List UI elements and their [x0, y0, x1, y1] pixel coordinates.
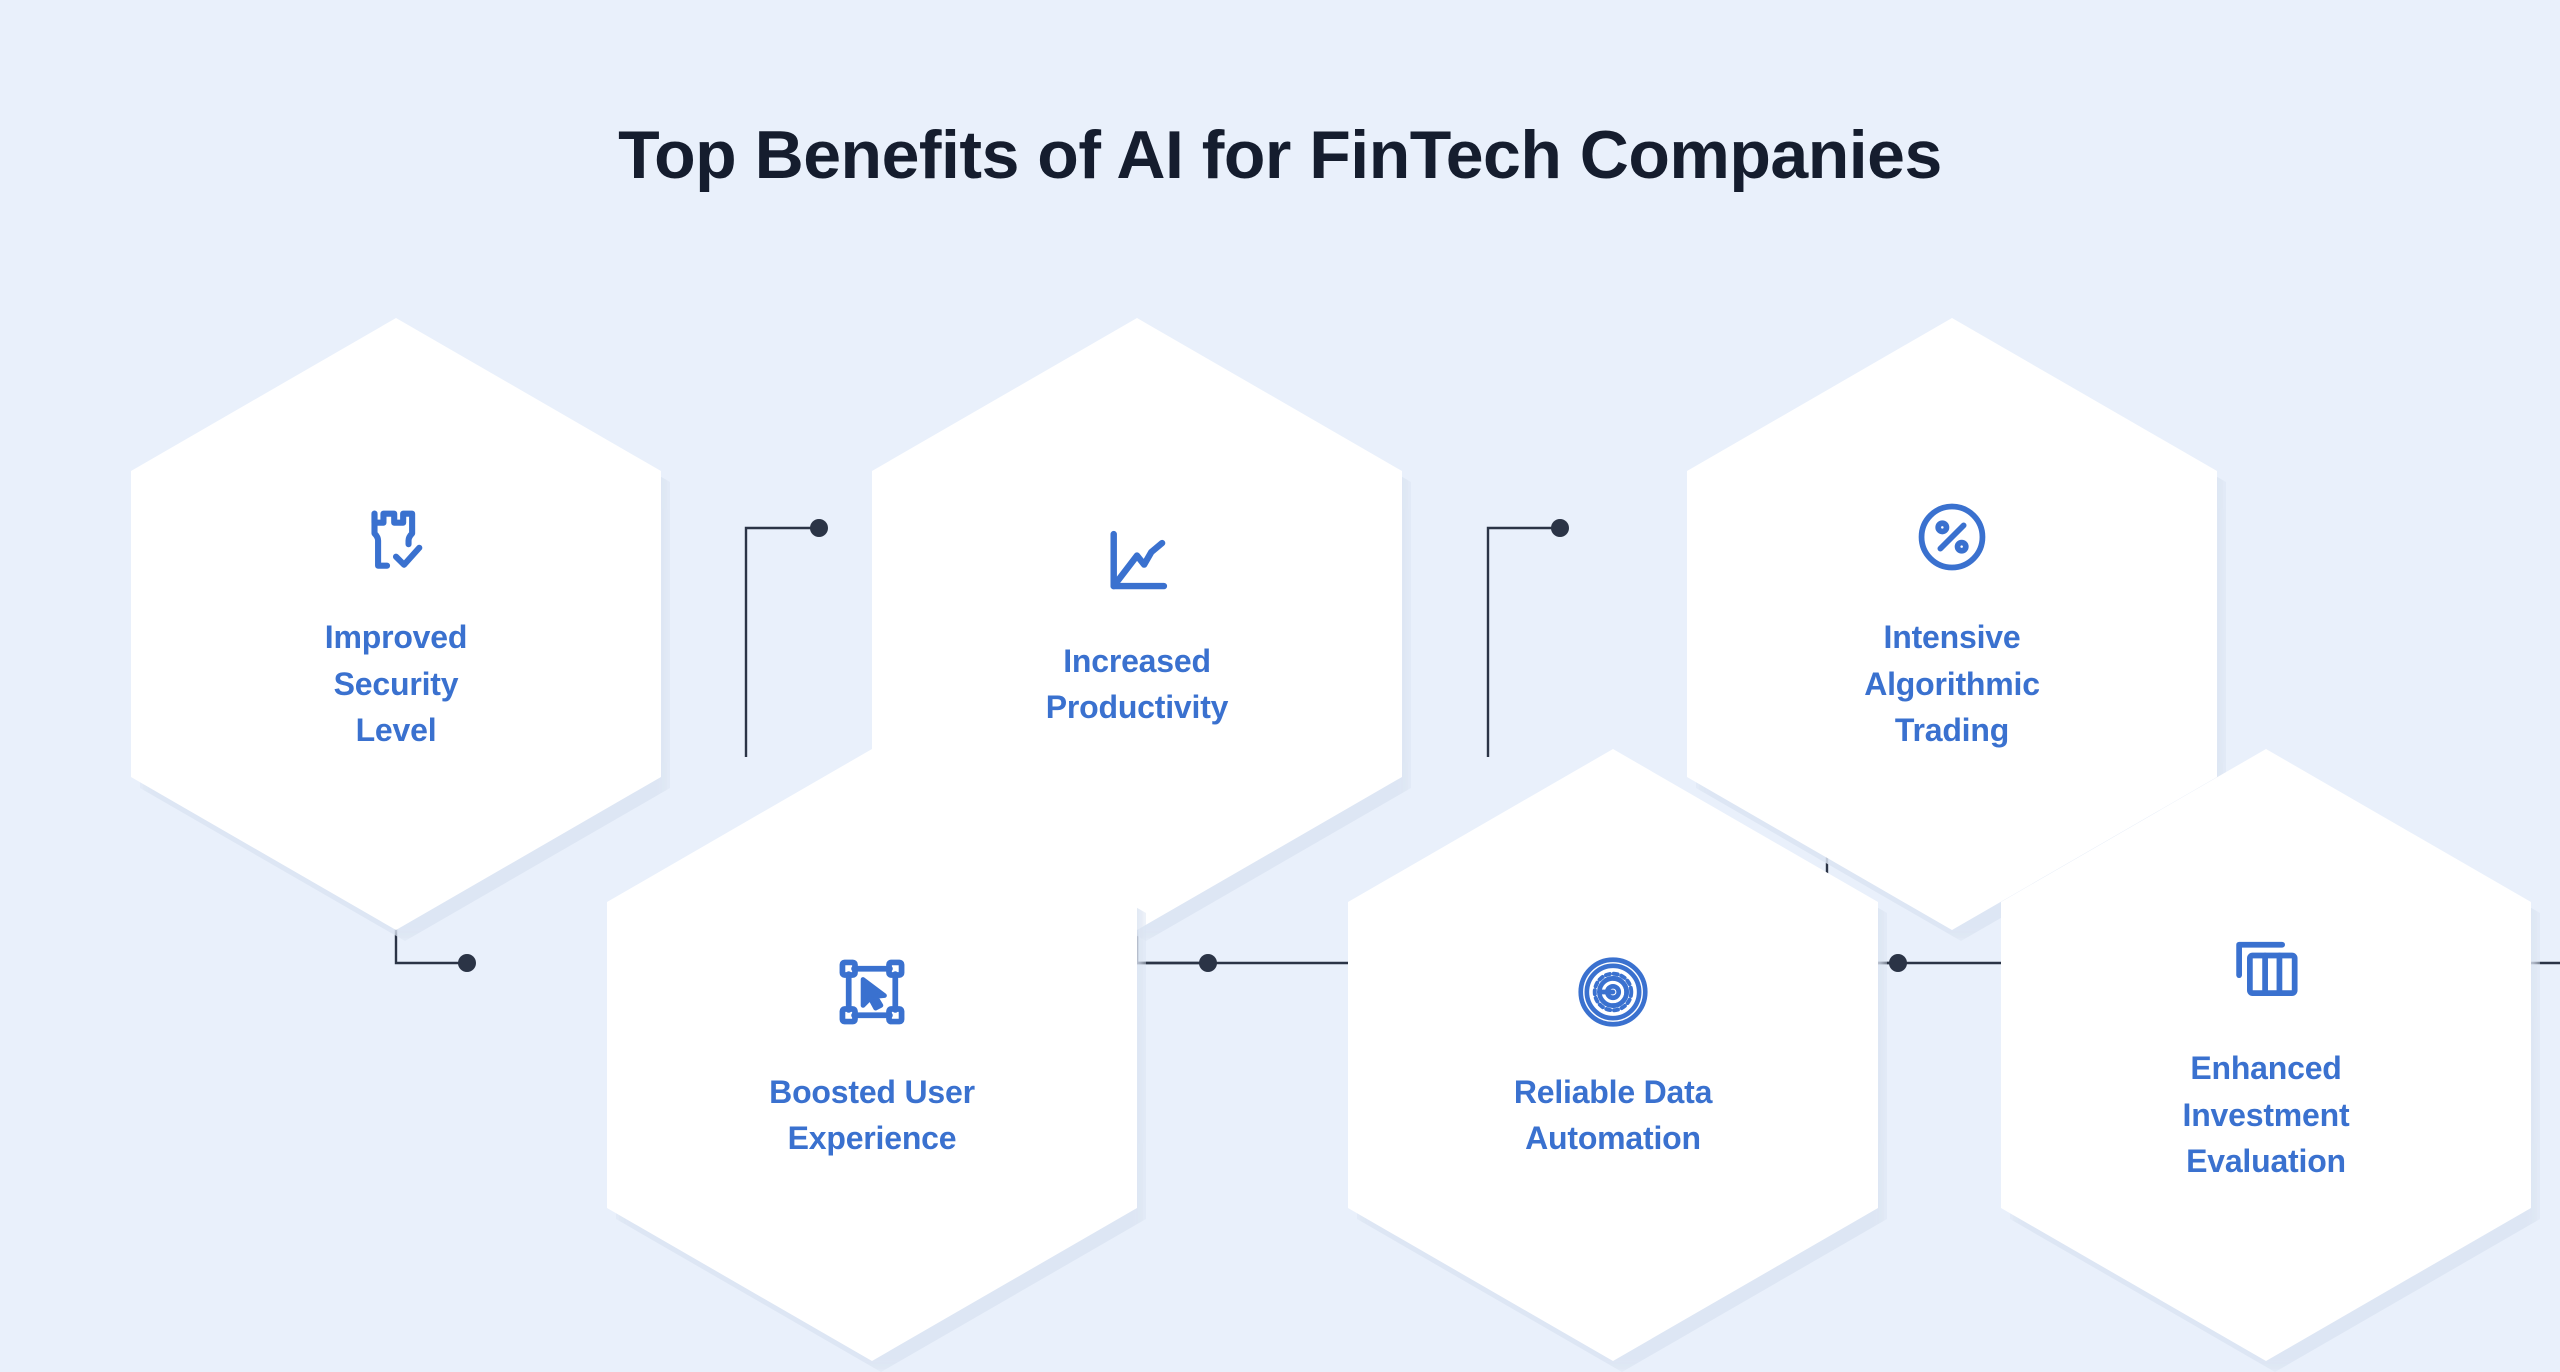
gear-target-icon	[1570, 949, 1656, 1035]
benefit-label: Reliable Data Automation	[1448, 1069, 1778, 1162]
connector-dot-2	[810, 519, 828, 537]
benefit-label-line-1: Intensive	[1787, 614, 2117, 660]
selection-cursor-icon	[829, 949, 915, 1035]
benefit-label-line-1: Improved	[231, 614, 561, 660]
hexagon-content: Reliable Data Automation	[1348, 749, 1878, 1361]
benefit-label-line-3: Level	[231, 707, 561, 753]
benefit-label-line-2: Investment	[2101, 1092, 2431, 1138]
connector-dot-5	[1889, 954, 1907, 972]
benefit-label: Intensive Algorithmic Trading	[1787, 614, 2117, 753]
connector-dot-1	[458, 954, 476, 972]
benefit-label-line-1: Reliable Data	[1448, 1069, 1778, 1115]
hexagon-content: Boosted User Experience	[607, 749, 1137, 1361]
infographic-canvas: Top Benefits of AI for FinTech Companies	[0, 0, 2560, 1307]
benefit-hexagon-improved-security-level[interactable]: Improved Security Level	[131, 318, 661, 930]
benefit-label-line-1: Enhanced	[2101, 1045, 2431, 1091]
connector-path-4	[1488, 528, 1556, 757]
benefit-label-line-1: Boosted User	[707, 1069, 1037, 1115]
benefit-label-line-2: Security	[231, 661, 561, 707]
hexagon-content: Enhanced Investment Evaluation	[2001, 749, 2531, 1361]
panels-columns-icon	[2223, 925, 2309, 1011]
benefit-label-line-2: Experience	[707, 1115, 1037, 1161]
line-chart-icon	[1094, 518, 1180, 604]
benefit-label-line-2: Automation	[1448, 1115, 1778, 1161]
benefit-hexagon-boosted-user-experience[interactable]: Boosted User Experience	[607, 749, 1137, 1361]
connector-dot-3	[1199, 954, 1217, 972]
percent-circle-icon	[1909, 494, 1995, 580]
benefit-label-line-2: Productivity	[972, 684, 1302, 730]
benefit-label: Boosted User Experience	[707, 1069, 1037, 1162]
connector-path-2	[746, 528, 815, 757]
hexagon-content: Improved Security Level	[131, 318, 661, 930]
benefit-label: Increased Productivity	[972, 638, 1302, 731]
benefit-hexagon-reliable-data-automation[interactable]: Reliable Data Automation	[1348, 749, 1878, 1361]
benefit-label-line-3: Evaluation	[2101, 1138, 2431, 1184]
page-title: Top Benefits of AI for FinTech Companies	[0, 118, 2560, 193]
benefit-label: Improved Security Level	[231, 614, 561, 753]
connector-dot-4	[1551, 519, 1569, 537]
benefit-hexagon-enhanced-investment-evaluation[interactable]: Enhanced Investment Evaluation	[2001, 749, 2531, 1361]
castle-tower-check-icon	[353, 494, 439, 580]
benefit-label-line-1: Increased	[972, 638, 1302, 684]
benefit-label: Enhanced Investment Evaluation	[2101, 1045, 2431, 1184]
benefit-label-line-2: Algorithmic	[1787, 661, 2117, 707]
benefit-label-line-3: Trading	[1787, 707, 2117, 753]
